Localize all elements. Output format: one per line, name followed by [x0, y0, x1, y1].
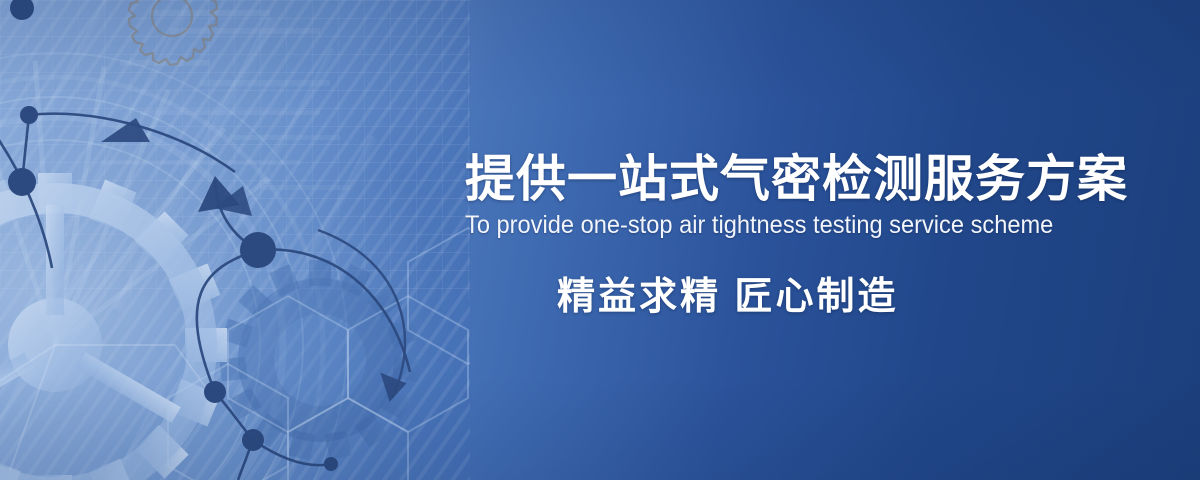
page-title: 提供一站式气密检测服务方案 [465, 150, 1065, 208]
subtitle-english: To provide one-stop air tightness testin… [465, 208, 1032, 240]
slogan-text: 精益求精 匠心制造 [465, 240, 1065, 321]
promo-banner: 提供一站式气密检测服务方案 To provide one-stop air ti… [0, 0, 1200, 480]
banner-text-block: 提供一站式气密检测服务方案 To provide one-stop air ti… [465, 150, 1065, 321]
